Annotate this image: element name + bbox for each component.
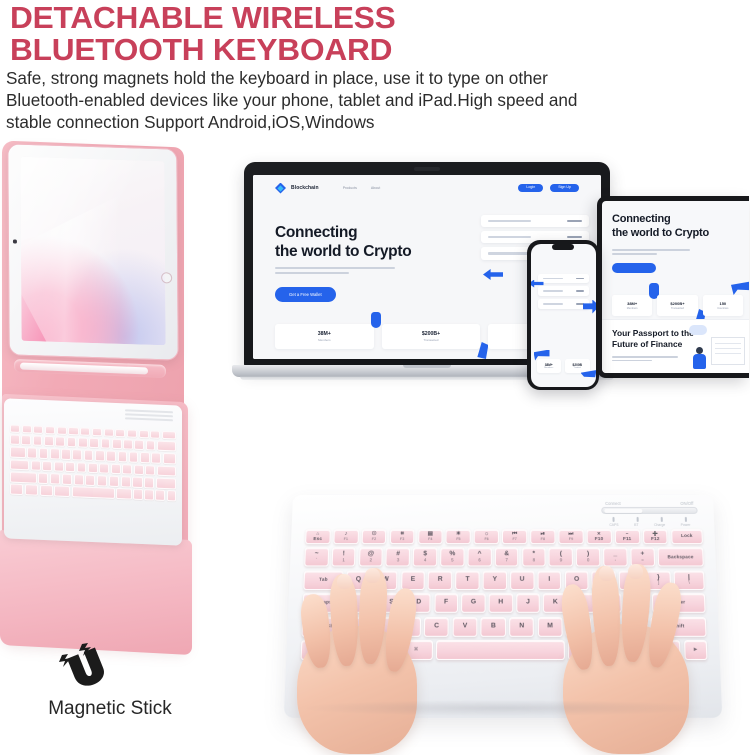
key-caps[interactable]: Caps bbox=[302, 593, 349, 613]
decor-blob bbox=[581, 370, 596, 381]
key-top-legend: L bbox=[580, 600, 584, 607]
key-main-legend: [ bbox=[631, 581, 632, 586]
key--[interactable]: ▶ bbox=[684, 640, 708, 660]
stat-caption: Countries bbox=[705, 307, 741, 310]
small-key bbox=[144, 490, 153, 501]
key-4[interactable]: $4 bbox=[413, 548, 437, 567]
wallet-row[interactable] bbox=[538, 299, 589, 309]
small-key bbox=[62, 474, 72, 485]
key-main-legend: \ bbox=[688, 581, 689, 586]
stat-card: 38M+ Members bbox=[537, 359, 562, 373]
small-key bbox=[99, 463, 109, 474]
key-u[interactable]: U bbox=[510, 570, 534, 589]
small-key bbox=[122, 464, 132, 475]
key-main-legend: F9 bbox=[569, 538, 573, 542]
small-key bbox=[61, 449, 71, 460]
key-esc[interactable]: ⌂Esc bbox=[305, 529, 330, 544]
power-label: ON/Off bbox=[680, 501, 693, 506]
tablet-band-subtext bbox=[612, 356, 678, 363]
power-switch[interactable] bbox=[601, 507, 697, 514]
status-leds bbox=[601, 517, 698, 522]
small-key bbox=[155, 490, 164, 501]
key-top-legend: C bbox=[434, 623, 439, 630]
key-f8[interactable]: ⏯F8 bbox=[530, 529, 555, 544]
decor-blob bbox=[477, 342, 488, 359]
key-m[interactable]: M bbox=[537, 617, 562, 637]
stat-caption: Members bbox=[614, 307, 650, 310]
small-key bbox=[111, 463, 121, 474]
magnet-icon bbox=[52, 638, 122, 700]
hero-title-line-1: Connecting bbox=[275, 224, 357, 241]
key--[interactable]: ⌘ bbox=[399, 640, 433, 660]
key-main-legend: 5 bbox=[451, 558, 454, 562]
key-y[interactable]: Y bbox=[483, 570, 507, 589]
small-key bbox=[72, 486, 115, 498]
key-3[interactable]: #3 bbox=[386, 548, 410, 567]
key-main-legend: , bbox=[578, 628, 579, 633]
key-x[interactable]: X bbox=[395, 617, 420, 637]
key-top-legend: V bbox=[463, 623, 468, 630]
stat-value: 150 bbox=[705, 301, 741, 306]
description-paragraph: Safe, strong magnets hold the keyboard i… bbox=[6, 68, 739, 134]
key-1[interactable]: !1 bbox=[331, 548, 356, 567]
key-f5[interactable]: ☀F5 bbox=[446, 529, 471, 544]
key-r[interactable]: R bbox=[428, 570, 452, 589]
key-k[interactable]: K bbox=[543, 593, 567, 613]
key-b[interactable]: B bbox=[481, 617, 506, 637]
key-fn[interactable]: fn bbox=[301, 640, 331, 660]
key-top-legend: B bbox=[491, 623, 496, 630]
small-key bbox=[123, 439, 133, 450]
small-key bbox=[121, 476, 131, 487]
small-key bbox=[157, 440, 176, 451]
key-main-legend: F1 bbox=[344, 538, 348, 542]
small-key bbox=[68, 427, 78, 435]
keyboard-key-grid[interactable]: ⌂Esc♪F1☉F2⌗F3▤F4☀F5☼F6⏮F7⏯F8⏭F9✕F10−F11➕… bbox=[300, 529, 708, 675]
tablet-hero-line-1: Connecting bbox=[612, 213, 671, 225]
small-key bbox=[139, 430, 149, 438]
small-key bbox=[67, 437, 77, 448]
key-c[interactable]: C bbox=[424, 617, 449, 637]
key-f7[interactable]: ⏮F7 bbox=[502, 529, 527, 544]
detached-keyboard-small bbox=[4, 398, 182, 545]
key-shift[interactable]: Shift bbox=[302, 617, 365, 637]
small-key bbox=[10, 471, 37, 483]
ipad-case-product-photo bbox=[0, 140, 210, 660]
small-key bbox=[92, 428, 102, 436]
small-keyboard-keys bbox=[10, 425, 176, 540]
led-label-caps: CAPS bbox=[609, 522, 618, 526]
small-key bbox=[162, 431, 176, 440]
key--[interactable]: :; bbox=[598, 593, 622, 613]
key-7[interactable]: &7 bbox=[495, 548, 519, 567]
navbar-links[interactable]: Products About bbox=[343, 186, 381, 190]
key-f12[interactable]: ➕F12 bbox=[643, 529, 668, 544]
led-indicator bbox=[685, 517, 687, 522]
key-top-legend: W bbox=[382, 577, 388, 584]
key-ctrl[interactable]: ctrl bbox=[333, 640, 363, 660]
key-t[interactable]: T bbox=[455, 570, 479, 589]
wireless-keyboard-large[interactable]: Connect ON/Off CAPS BT Charge Power ⌂Esc… bbox=[284, 495, 723, 718]
wallet-row[interactable] bbox=[538, 274, 589, 284]
nav-link-products[interactable]: Products bbox=[343, 186, 357, 190]
headline-line-1: DETACHABLE WIRELESS bbox=[10, 0, 396, 35]
key-f6[interactable]: ☼F6 bbox=[474, 529, 499, 544]
led-indicator bbox=[661, 517, 663, 522]
led-indicator bbox=[612, 517, 614, 522]
small-key bbox=[116, 488, 131, 499]
stat-caption: Members bbox=[279, 338, 370, 342]
key-main-legend: ⌘ bbox=[414, 648, 419, 653]
key-f2[interactable]: ☉F2 bbox=[361, 529, 386, 544]
small-key bbox=[134, 464, 144, 475]
key-main-legend: Caps bbox=[320, 601, 332, 606]
led-label-power: Power bbox=[681, 522, 691, 526]
key-n[interactable]: N bbox=[509, 617, 534, 637]
small-key bbox=[145, 465, 155, 476]
small-key bbox=[104, 428, 114, 436]
description-line-2: Bluetooth-enabled devices like your phon… bbox=[6, 90, 739, 112]
stat-card: $200B+ Transacted bbox=[657, 295, 697, 316]
key-main-legend: F11 bbox=[623, 537, 631, 542]
key-lock[interactable]: Lock bbox=[671, 529, 703, 544]
key-main-legend: Backspace bbox=[667, 555, 693, 560]
key-9[interactable]: (9 bbox=[549, 548, 573, 567]
key-f10[interactable]: ✕F10 bbox=[586, 529, 611, 544]
phone-mockup: 38M+ Members $200B Traded bbox=[527, 240, 599, 390]
key-main-legend: fn bbox=[314, 648, 318, 653]
key-o[interactable]: O bbox=[564, 570, 588, 589]
small-key bbox=[55, 436, 65, 447]
key-tab[interactable]: Tab bbox=[303, 570, 343, 589]
key-main-legend: 9 bbox=[560, 558, 563, 562]
key-l[interactable]: L bbox=[570, 593, 594, 613]
key-z[interactable]: Z bbox=[367, 617, 393, 637]
key-6[interactable]: ^6 bbox=[467, 548, 491, 567]
ipad-screen bbox=[20, 157, 165, 346]
led-label-bt: BT bbox=[634, 522, 638, 526]
key-main-legend: ] bbox=[658, 581, 659, 586]
key--[interactable]: |\ bbox=[673, 570, 704, 589]
key--[interactable]: += bbox=[630, 548, 654, 567]
stat-card: 38M+ Members bbox=[275, 324, 374, 350]
key-main-legend: 3 bbox=[397, 558, 400, 562]
key--[interactable]: _- bbox=[603, 548, 627, 567]
key-top-legend: T bbox=[465, 577, 469, 584]
finance-illustration bbox=[683, 325, 745, 369]
hero-subtext bbox=[275, 267, 395, 277]
key-main-legend: F4 bbox=[428, 538, 432, 542]
signup-button[interactable]: Sign Up bbox=[550, 184, 579, 193]
key--[interactable]: }] bbox=[646, 570, 671, 589]
login-button[interactable]: Login bbox=[518, 184, 543, 193]
stat-value: $200B+ bbox=[386, 331, 477, 337]
small-key bbox=[40, 485, 53, 496]
keyboard-row-function-row: ⌂Esc♪F1☉F2⌗F3▤F4☀F5☼F6⏮F7⏯F8⏭F9✕F10−F11➕… bbox=[305, 529, 703, 544]
key-f4[interactable]: ▤F4 bbox=[418, 529, 443, 544]
small-key bbox=[127, 429, 137, 437]
small-key bbox=[10, 447, 26, 458]
small-key bbox=[156, 478, 176, 489]
small-key bbox=[21, 435, 31, 446]
key-f[interactable]: F bbox=[434, 593, 458, 613]
small-key bbox=[10, 434, 20, 445]
key-main-legend: ▲ bbox=[640, 648, 645, 653]
small-key bbox=[85, 475, 95, 486]
small-key bbox=[42, 460, 52, 471]
small-key bbox=[95, 450, 105, 461]
connect-label: Connect bbox=[605, 501, 621, 506]
key-f11[interactable]: −F11 bbox=[615, 529, 640, 544]
small-key bbox=[38, 473, 48, 484]
keyboard-row-qwerty-row: TabQWERTYUIOP{[}]|\ bbox=[303, 570, 704, 589]
key-main-legend: 4 bbox=[424, 558, 427, 562]
key-w[interactable]: W bbox=[373, 570, 397, 589]
brand-logo[interactable]: Blockchain bbox=[275, 183, 319, 194]
cloud-icon bbox=[689, 325, 707, 335]
keyboard-row-bottom-row: fnctrl⌥⌘⌘◀▲▼▶ bbox=[301, 640, 708, 660]
description-line-3: stable connection Support Android,iOS,Wi… bbox=[6, 112, 739, 134]
cursor-arrow-left-icon bbox=[483, 269, 503, 280]
small-key bbox=[50, 473, 60, 484]
stat-card: $200B Traded bbox=[565, 359, 590, 373]
key-main-legend: - bbox=[615, 558, 617, 562]
key-v[interactable]: V bbox=[452, 617, 477, 637]
key-e[interactable]: E bbox=[401, 570, 425, 589]
key-main-legend: Enter bbox=[672, 601, 685, 606]
hero-cta-button[interactable]: Get a Free Wallet bbox=[275, 287, 336, 302]
small-key bbox=[144, 477, 154, 488]
key-main-legend: / bbox=[635, 628, 636, 633]
tablet-stats-row: 38M+ Members $200B+ Transacted 150 Count… bbox=[612, 295, 743, 316]
key-top-legend: Z bbox=[378, 623, 382, 630]
ipad-device bbox=[7, 143, 178, 360]
small-key bbox=[150, 430, 160, 438]
key-main-legend: Shift bbox=[327, 624, 339, 629]
key--[interactable]: <, bbox=[566, 617, 591, 637]
keyboard-row-shift-row: ShiftZXCVBNM<,>.?/Shift bbox=[302, 617, 707, 637]
key--[interactable]: {[ bbox=[619, 570, 644, 589]
keyboard-indicator-panel: Connect ON/Off CAPS BT Charge Power bbox=[601, 501, 698, 527]
key--[interactable]: ▲ bbox=[631, 640, 655, 660]
key-top-legend: G bbox=[471, 600, 476, 607]
phone-screen: 38M+ Members $200B Traded bbox=[531, 244, 596, 387]
key-h[interactable]: H bbox=[489, 593, 513, 613]
key-space[interactable] bbox=[436, 640, 565, 660]
key-f9[interactable]: ⏭F9 bbox=[558, 529, 583, 544]
key-f1[interactable]: ♪F1 bbox=[333, 529, 358, 544]
key-2[interactable]: @2 bbox=[359, 548, 383, 567]
keyboard-shadow bbox=[300, 700, 706, 716]
key-main-legend: Lock bbox=[681, 534, 693, 539]
small-key bbox=[118, 451, 128, 462]
key-backspace[interactable]: Backspace bbox=[657, 548, 704, 567]
key-top-legend: F bbox=[444, 600, 448, 607]
ipad-front-camera-icon bbox=[13, 239, 17, 243]
small-key bbox=[10, 484, 23, 495]
nav-link-about[interactable]: About bbox=[371, 186, 380, 190]
key-main-legend: F2 bbox=[372, 538, 376, 542]
led-label-charge: Charge bbox=[654, 522, 665, 526]
key--[interactable]: ◀ bbox=[605, 640, 629, 660]
small-key bbox=[54, 486, 69, 497]
small-key bbox=[33, 435, 43, 446]
phone-dynamic-island bbox=[552, 244, 574, 250]
key--[interactable]: ▼ bbox=[657, 640, 681, 660]
small-key bbox=[88, 462, 98, 473]
decor-blob bbox=[534, 350, 550, 361]
key--[interactable]: >. bbox=[594, 617, 620, 637]
small-key bbox=[77, 462, 87, 473]
key-top-legend: N bbox=[519, 623, 524, 630]
tablet-screen: Connecting the world to Crypto 38M+ Memb… bbox=[602, 201, 749, 373]
decor-blob bbox=[371, 312, 381, 328]
key-top-legend: J bbox=[526, 600, 530, 607]
stat-value: $200B+ bbox=[659, 301, 695, 306]
small-key bbox=[72, 449, 82, 460]
website-navbar: Blockchain Products About Login Sign Up bbox=[253, 175, 601, 201]
tablet-mockup: Connecting the world to Crypto 38M+ Memb… bbox=[597, 196, 749, 378]
key-top-legend: D bbox=[416, 600, 421, 607]
small-key bbox=[25, 485, 38, 496]
key-main-legend: 8 bbox=[533, 558, 536, 562]
key-main-legend: ; bbox=[609, 604, 610, 609]
tablet-band-line-1: Your Passport to the bbox=[612, 328, 694, 338]
tablet-feature-band: Your Passport to the Future of Finance bbox=[602, 319, 749, 373]
keyboard-row-home-row: CapsASDFGHJKL:;"'Enter bbox=[302, 593, 705, 613]
key-top-legend: A bbox=[362, 600, 367, 607]
small-key bbox=[140, 452, 150, 463]
small-key bbox=[74, 474, 84, 485]
key-top-legend: U bbox=[520, 577, 525, 584]
small-key bbox=[57, 426, 67, 434]
brand-name: Blockchain bbox=[291, 185, 319, 191]
small-key bbox=[27, 447, 37, 458]
ipad-home-button[interactable] bbox=[161, 272, 172, 283]
small-key bbox=[65, 461, 75, 472]
tablet-hero-title: Connecting the world to Crypto bbox=[612, 213, 709, 241]
small-key bbox=[163, 453, 177, 464]
small-key bbox=[167, 490, 176, 501]
small-key bbox=[89, 438, 99, 449]
small-keyboard-indicators bbox=[125, 409, 173, 427]
key-s[interactable]: S bbox=[379, 593, 403, 613]
small-key bbox=[101, 438, 111, 449]
key-main-legend: 1 bbox=[342, 558, 345, 562]
key-main-legend: ▶ bbox=[694, 648, 698, 653]
product-marketing-image: DETACHABLE WIRELESS BLUETOOTH KEYBOARD S… bbox=[0, 0, 750, 750]
tablet-cta-button[interactable] bbox=[612, 263, 656, 273]
key-0[interactable]: )0 bbox=[576, 548, 600, 567]
small-key bbox=[80, 427, 90, 435]
key--[interactable]: ⌘ bbox=[568, 640, 602, 660]
small-key bbox=[106, 451, 116, 462]
stat-value: 38M+ bbox=[614, 301, 650, 306]
small-key bbox=[109, 476, 119, 487]
key-top-legend: M bbox=[547, 623, 553, 630]
key-8[interactable]: *8 bbox=[522, 548, 546, 567]
document-icon bbox=[711, 337, 745, 365]
small-key bbox=[151, 453, 161, 464]
key--[interactable]: ~` bbox=[304, 548, 329, 567]
led-indicator bbox=[637, 517, 639, 522]
key-main-legend: F12 bbox=[651, 537, 660, 542]
key-d[interactable]: D bbox=[407, 593, 431, 613]
stat-caption: Transacted bbox=[659, 307, 695, 310]
key-main-legend: 7 bbox=[505, 558, 507, 562]
tablet-band-line-2: Future of Finance bbox=[612, 339, 682, 349]
key-main-legend: F3 bbox=[400, 538, 404, 542]
key-enter[interactable]: Enter bbox=[652, 593, 705, 613]
key-main-legend: F5 bbox=[456, 538, 460, 542]
hero-title: Connecting the world to Crypto bbox=[275, 223, 411, 261]
key-5[interactable]: %5 bbox=[440, 548, 464, 567]
small-key bbox=[39, 448, 49, 459]
small-key bbox=[134, 440, 144, 451]
tablet-hero-subtext bbox=[612, 249, 690, 257]
wallet-row[interactable] bbox=[481, 215, 589, 227]
hero-title-line-2: the world to Crypto bbox=[275, 243, 411, 260]
key-a[interactable]: A bbox=[352, 593, 377, 613]
key-top-legend: P bbox=[602, 577, 607, 584]
small-key bbox=[54, 461, 64, 472]
small-key bbox=[45, 426, 55, 434]
led-labels: CAPS BT Charge Power bbox=[602, 522, 699, 526]
tablet-hero-line-2: the world to Crypto bbox=[612, 227, 709, 239]
navbar-buttons[interactable]: Login Sign Up bbox=[518, 184, 579, 193]
key-q[interactable]: Q bbox=[346, 570, 371, 589]
key-main-legend: 2 bbox=[369, 558, 372, 562]
key-top-legend: Y bbox=[493, 577, 497, 584]
case-front-flap bbox=[0, 530, 192, 655]
key-top-legend: S bbox=[389, 600, 394, 607]
stat-value: 38M+ bbox=[279, 331, 370, 337]
person-icon bbox=[693, 347, 707, 369]
key-top-legend: H bbox=[498, 600, 503, 607]
key-j[interactable]: J bbox=[516, 593, 540, 613]
stat-card: 150 Countries bbox=[703, 295, 743, 316]
small-key bbox=[22, 425, 32, 433]
stat-caption: Transacted bbox=[386, 338, 477, 342]
key-main-legend: ◀ bbox=[615, 648, 619, 653]
key-main-legend: Shift bbox=[673, 624, 685, 629]
stat-caption: Traded bbox=[567, 367, 588, 369]
key--[interactable]: "' bbox=[625, 593, 650, 613]
decor-blob bbox=[731, 281, 749, 295]
small-key bbox=[112, 439, 122, 450]
key-g[interactable]: G bbox=[461, 593, 485, 613]
key-main-legend: ⌘ bbox=[582, 648, 587, 653]
headline-line-2: BLUETOOTH KEYBOARD bbox=[10, 34, 750, 66]
key-main-legend: ' bbox=[637, 604, 638, 609]
phone-wallet-list bbox=[538, 274, 589, 312]
key--[interactable]: ?/ bbox=[622, 617, 648, 637]
key-p[interactable]: P bbox=[592, 570, 616, 589]
small-key bbox=[129, 452, 139, 463]
key-main-legend: ctrl bbox=[344, 648, 352, 653]
wallet-row[interactable] bbox=[538, 286, 589, 296]
small-key bbox=[157, 465, 176, 476]
key-top-legend: E bbox=[411, 577, 416, 584]
key-main-legend: Tab bbox=[319, 578, 328, 583]
key-f3[interactable]: ⌗F3 bbox=[390, 529, 415, 544]
key-main-legend: ⌥ bbox=[378, 648, 383, 653]
key-top-legend: I bbox=[548, 577, 550, 584]
key-shift[interactable]: Shift bbox=[651, 617, 707, 637]
tablet-band-title: Your Passport to the Future of Finance bbox=[612, 328, 694, 349]
key-i[interactable]: I bbox=[537, 570, 561, 589]
key--[interactable]: ⌥ bbox=[366, 640, 396, 660]
